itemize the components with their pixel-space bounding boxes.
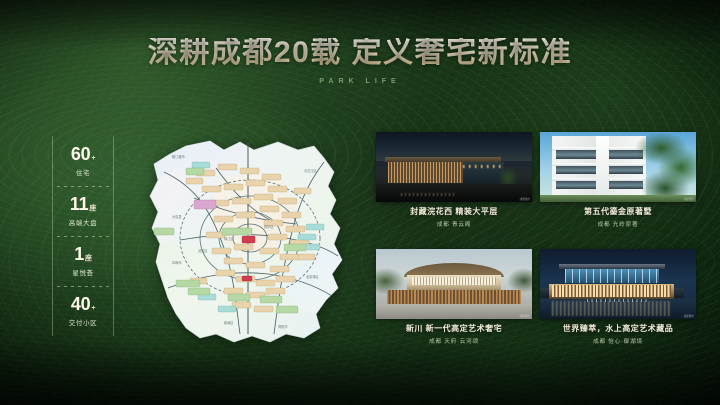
svg-text:新津区: 新津区 <box>224 320 234 325</box>
project-card[interactable]: 成都楼市 封藏浣花西 精装大平层 成都 青云阁 <box>376 132 532 243</box>
photo-colonnade <box>388 162 463 183</box>
project-caption: 封藏浣花西 精装大平层 成都 青云阁 <box>376 208 532 228</box>
map-svg: 都江堰市 青白江区 大邑县 邛崃市 新津区 简阳市 龙泉驿区 锦江区 武侯区 成… <box>128 128 368 363</box>
project-photo-dusk-colonnade[interactable]: 成都楼市 <box>376 132 532 202</box>
stat-item-large-developments: 11 座 高端大盘 <box>53 186 113 236</box>
stat-number: 40 <box>71 295 90 313</box>
stat-unit: + <box>91 155 95 162</box>
stat-item-landmark: 1 座 星悦荟 <box>53 236 113 286</box>
photo-lawn <box>540 195 696 202</box>
project-location: 成都 光岭原著 <box>540 220 696 228</box>
stat-item-delivered: 40 + 交付小区 <box>53 286 113 336</box>
stat-unit: 座 <box>89 205 96 212</box>
photo-vertical-core <box>596 136 608 198</box>
photo-mullions <box>565 269 659 283</box>
slide-header: 深耕成都20载 定义奢宅新标准 PARK LIFE <box>0 38 720 85</box>
photo-foliage <box>498 167 518 185</box>
photo-watermark: 成都楼市 <box>520 197 530 201</box>
stat-number: 60 <box>71 145 90 163</box>
project-photo-curved-clubhouse[interactable]: 成都楼市 <box>376 249 532 319</box>
stat-unit: 座 <box>85 255 92 262</box>
stat-label: 星悦荟 <box>72 267 93 277</box>
photo-water-reflection <box>552 301 671 316</box>
project-title: 封藏浣花西 精装大平层 <box>376 208 532 217</box>
project-card[interactable]: 成都楼市 世界臻萃，水上高定艺术藏品 成都 怡心·御湖境 <box>540 249 696 360</box>
stat-label: 住宅 <box>76 167 90 177</box>
project-title: 世界臻萃，水上高定艺术藏品 <box>540 325 696 334</box>
project-photo-white-apartments[interactable]: 成都楼市 <box>540 132 696 202</box>
statistics-panel: 60 + 住宅 11 座 高端大盘 1 座 星悦荟 40 + 交付小区 <box>52 136 114 336</box>
photo-tree-canopy <box>634 133 696 202</box>
project-card[interactable]: 成都楼市 新川 新一代高定艺术奢宅 成都 天府·云河颂 <box>376 249 532 360</box>
page-title: 深耕成都20载 定义奢宅新标准 <box>0 38 720 68</box>
stat-value: 11 座 <box>70 195 96 213</box>
project-photo-glass-pavilion[interactable]: 成都楼市 <box>540 249 696 319</box>
stat-number: 11 <box>70 195 88 213</box>
photo-watermark: 成都楼市 <box>684 197 694 201</box>
photo-watermark: 成都楼市 <box>520 314 530 318</box>
stat-unit: + <box>91 305 95 312</box>
project-caption: 第五代鎏金原著墅 成都 光岭原著 <box>540 208 696 228</box>
photo-warm-lights <box>463 165 500 169</box>
photo-lit-interior <box>552 285 671 296</box>
photo-foreground <box>376 184 532 202</box>
project-location: 成都 青云阁 <box>376 220 532 228</box>
page-subtitle: PARK LIFE <box>0 78 720 85</box>
stat-label: 高端大盘 <box>69 217 97 227</box>
slide-canvas: 深耕成都20载 定义奢宅新标准 PARK LIFE 60 + 住宅 11 座 高… <box>0 0 720 405</box>
photo-plaza <box>376 304 532 319</box>
project-card[interactable]: 成都楼市 第五代鎏金原著墅 成都 光岭原著 <box>540 132 696 243</box>
project-location: 成都 天府·云河颂 <box>376 337 532 345</box>
stat-value: 1 座 <box>74 245 91 263</box>
stat-value: 60 + <box>71 145 95 163</box>
project-caption: 世界臻萃，水上高定艺术藏品 成都 怡心·御湖境 <box>540 325 696 345</box>
svg-text:龙泉驿区: 龙泉驿区 <box>306 274 320 279</box>
stat-label: 交付小区 <box>69 317 97 327</box>
svg-text:都江堰市: 都江堰市 <box>172 154 186 159</box>
stat-number: 1 <box>74 245 84 263</box>
svg-text:锦江区: 锦江区 <box>224 236 234 241</box>
project-caption: 新川 新一代高定艺术奢宅 成都 天府·云河颂 <box>376 325 532 345</box>
project-location: 成都 怡心·御湖境 <box>540 337 696 345</box>
project-showcase-grid: 成都楼市 封藏浣花西 精装大平层 成都 青云阁 成都楼市 <box>376 132 696 360</box>
project-title: 第五代鎏金原著墅 <box>540 208 696 217</box>
svg-text:大邑县: 大邑县 <box>172 214 182 219</box>
photo-glass-band <box>412 277 496 285</box>
svg-text:武侯区: 武侯区 <box>198 248 208 253</box>
svg-text:邛崃市: 邛崃市 <box>172 260 182 265</box>
photo-reflection <box>401 193 454 196</box>
photo-watermark: 成都楼市 <box>684 314 694 318</box>
svg-text:青白江区: 青白江区 <box>304 168 318 173</box>
stat-item-residences: 60 + 住宅 <box>53 136 113 186</box>
stat-value: 40 + <box>71 295 95 313</box>
chengdu-project-map[interactable]: 都江堰市 青白江区 大邑县 邛崃市 新津区 简阳市 龙泉驿区 锦江区 武侯区 成… <box>128 128 368 363</box>
project-title: 新川 新一代高定艺术奢宅 <box>376 325 532 334</box>
svg-text:简阳市: 简阳市 <box>278 324 288 329</box>
svg-text:成华区: 成华区 <box>264 224 274 229</box>
